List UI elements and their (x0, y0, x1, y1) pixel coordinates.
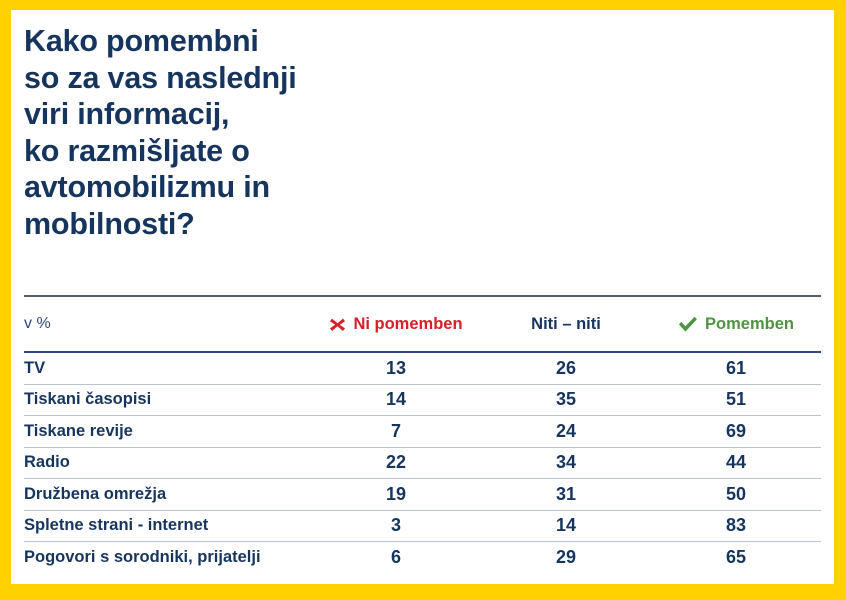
column-header-label: Ni pomemben (353, 315, 462, 334)
row-label: Tiskane revije (24, 422, 133, 440)
table-row: TV 13 26 61 (24, 353, 821, 384)
table-row: Družbena omrežja 19 31 50 (24, 479, 821, 510)
table-row: Tiskani časopisi 14 35 51 (24, 385, 821, 416)
row-value-neutral: 35 (556, 389, 576, 409)
row-label: Pogovori s sorodniki, prijatelji (24, 548, 261, 566)
row-value-neutral: 34 (556, 452, 576, 472)
row-label: Radio (24, 453, 70, 471)
title-line-6: mobilnosti? (24, 206, 724, 243)
row-value-not-important: 22 (386, 452, 406, 472)
table-header-row: v % Ni pomemben Niti – niti (24, 297, 821, 351)
row-value-neutral: 24 (556, 421, 576, 441)
unit-label: v % (24, 315, 51, 332)
column-header-not-important: Ni pomemben (311, 315, 481, 334)
unit-cell: v % (24, 315, 311, 333)
table-row: Spletne strani - internet 3 14 83 (24, 511, 821, 542)
column-header-label: Niti – niti (531, 315, 601, 334)
row-value-not-important: 3 (391, 515, 401, 535)
title-line-2: so za vas naslednji (24, 60, 724, 97)
row-value-not-important: 13 (386, 358, 406, 378)
title-line-4: ko razmišljate o (24, 133, 724, 170)
row-value-neutral: 26 (556, 358, 576, 378)
row-value-important: 69 (726, 421, 746, 441)
row-value-important: 51 (726, 389, 746, 409)
title-line-5: avtomobilizmu in (24, 169, 724, 206)
title-line-3: viri informacij, (24, 96, 724, 133)
page-title: Kako pomembni so za vas naslednji viri i… (24, 23, 724, 242)
row-value-neutral: 29 (556, 547, 576, 567)
row-value-not-important: 7 (391, 421, 401, 441)
column-header-neutral: Niti – niti (481, 315, 651, 334)
row-value-important: 50 (726, 484, 746, 504)
table-row: Radio 22 34 44 (24, 448, 821, 479)
row-value-important: 83 (726, 515, 746, 535)
cross-icon (329, 316, 346, 333)
row-value-not-important: 6 (391, 547, 401, 567)
column-header-label: Pomemben (705, 315, 794, 334)
row-value-not-important: 19 (386, 484, 406, 504)
row-label: Spletne strani - internet (24, 516, 208, 534)
results-table: v % Ni pomemben Niti – niti (24, 295, 821, 573)
row-label: TV (24, 359, 45, 377)
row-value-important: 61 (726, 358, 746, 378)
table-row: Pogovori s sorodniki, prijatelji 6 29 65 (24, 542, 821, 573)
row-value-neutral: 14 (556, 515, 576, 535)
check-icon (678, 316, 698, 333)
column-header-important: Pomemben (651, 315, 821, 334)
row-value-important: 44 (726, 452, 746, 472)
table-row: Tiskane revije 7 24 69 (24, 416, 821, 447)
yellow-border-frame: Kako pomembni so za vas naslednji viri i… (0, 0, 846, 600)
title-line-1: Kako pomembni (24, 23, 724, 60)
row-value-not-important: 14 (386, 389, 406, 409)
slide-content: Kako pomembni so za vas naslednji viri i… (11, 10, 834, 584)
row-value-neutral: 31 (556, 484, 576, 504)
row-label: Družbena omrežja (24, 485, 166, 503)
row-value-important: 65 (726, 547, 746, 567)
row-label: Tiskani časopisi (24, 390, 151, 408)
